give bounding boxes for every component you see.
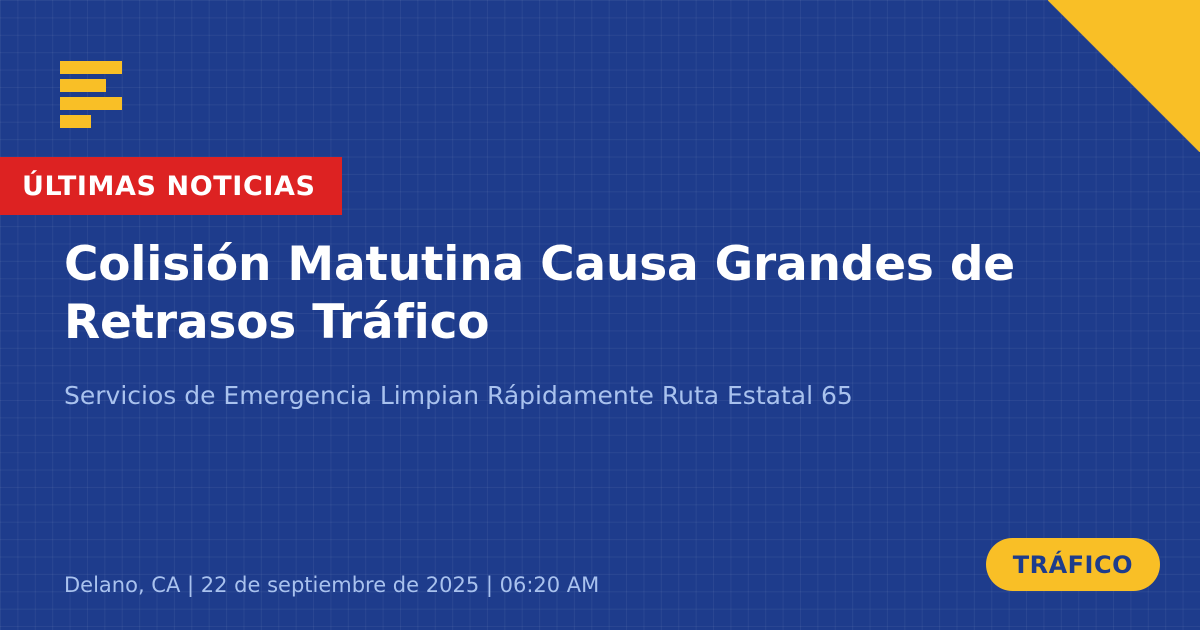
breaking-news-badge: ÚLTIMAS NOTICIAS: [0, 157, 342, 215]
category-badge-label: TRÁFICO: [1013, 551, 1133, 579]
footer-meta-line: Delano, CA | 22 de septiembre de 2025 | …: [64, 573, 599, 597]
subtitle: Servicios de Emergencia Limpian Rápidame…: [64, 380, 1124, 413]
brand-logo: [60, 61, 140, 128]
logo-bar-4: [60, 115, 91, 128]
logo-bar-2: [60, 79, 106, 92]
headline: Colisión Matutina Causa Grandes de Retra…: [64, 236, 1124, 353]
category-badge: TRÁFICO: [986, 538, 1160, 591]
news-graphic-card: ÚLTIMAS NOTICIAS Colisión Matutina Causa…: [0, 0, 1200, 630]
logo-bar-1: [60, 61, 122, 74]
logo-bar-3: [60, 97, 122, 110]
breaking-news-label: ÚLTIMAS NOTICIAS: [22, 171, 316, 202]
corner-accent-triangle: [1048, 0, 1200, 152]
